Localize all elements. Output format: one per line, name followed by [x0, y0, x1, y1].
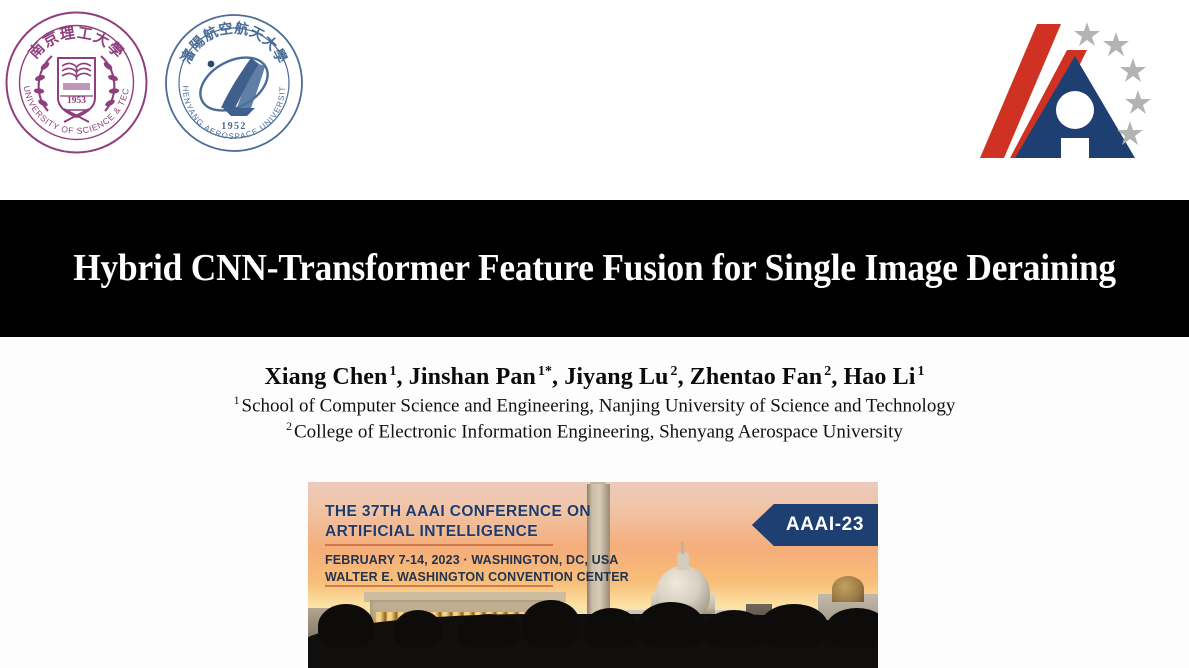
banner-divider-top [325, 544, 553, 546]
affiliation-text-1: School of Computer Science and Engineeri… [242, 395, 956, 416]
author-name-4: Hao Li [844, 364, 916, 390]
author-name-2: Jiyang Lu [564, 364, 668, 390]
author-mark-1: 1* [536, 364, 552, 379]
logo-band: NANJING UNIVERSITY OF SCIENCE & TECHNOLO… [0, 0, 1189, 200]
capitol-lantern [677, 552, 689, 570]
aaai-23-ribbon: AAAI-23 [752, 504, 878, 546]
capitol-spire [681, 542, 684, 554]
affiliation-line-2: 2College of Electronic Information Engin… [0, 417, 1189, 443]
njust-logo: NANJING UNIVERSITY OF SCIENCE & TECHNOLO… [4, 10, 149, 155]
authors-block: Xiang Chen1, Jinshan Pan1*, Jiyang Lu2, … [0, 345, 1189, 444]
banner-tree [394, 610, 442, 648]
affiliation-text-2: College of Electronic Information Engine… [294, 422, 903, 443]
shenyang-aerospace-logo: SHENYANG AEROSPACE UNIVERSITY 瀋陽航空航天大學 1… [163, 12, 305, 154]
aaai-23-ribbon-label: AAAI-23 [786, 514, 864, 536]
banner-tree [638, 602, 704, 648]
banner-headline: THE 37TH AAAI CONFERENCE ON ARTIFICIAL I… [325, 502, 591, 542]
aaai-logo [975, 16, 1175, 166]
conference-banner: THE 37TH AAAI CONFERENCE ON ARTIFICIAL I… [308, 482, 878, 668]
authors-line: Xiang Chen1, Jinshan Pan1*, Jiyang Lu2, … [0, 345, 1189, 391]
banner-tree [522, 600, 580, 648]
banner-divider-bottom [325, 585, 553, 587]
svg-text:1953: 1953 [67, 96, 86, 106]
banner-tree [584, 608, 638, 648]
banner-tree [318, 604, 374, 648]
banner-tree [458, 614, 520, 648]
page-title: Hybrid CNN-Transformer Feature Fusion fo… [73, 249, 1116, 289]
aaai-leg-gap [1061, 138, 1089, 158]
title-slide: NANJING UNIVERSITY OF SCIENCE & TECHNOLO… [0, 0, 1189, 668]
affiliation-line-1: 1School of Computer Science and Engineer… [0, 391, 1189, 417]
banner-tree [760, 604, 828, 648]
svg-text:1952: 1952 [221, 121, 247, 132]
banner-building-right-dome [832, 576, 864, 602]
author-mark-4: 1 [915, 364, 924, 379]
author-mark-3: 2 [822, 364, 831, 379]
title-bar: Hybrid CNN-Transformer Feature Fusion fo… [0, 200, 1189, 337]
author-mark-2: 2 [669, 364, 678, 379]
banner-tree [704, 610, 764, 648]
affiliation-mark-2: 2 [286, 420, 294, 433]
aaai-counter-circle [1056, 91, 1094, 129]
author-name-3: Zhentao Fan [690, 364, 822, 390]
author-name-0: Xiang Chen [264, 364, 387, 390]
affiliation-mark-1: 1 [234, 394, 242, 407]
author-name-1: Jinshan Pan [409, 364, 536, 390]
banner-tree [826, 608, 878, 648]
author-mark-0: 1 [387, 364, 396, 379]
banner-date-location: FEBRUARY 7-14, 2023 · WASHINGTON, DC, US… [325, 552, 629, 587]
